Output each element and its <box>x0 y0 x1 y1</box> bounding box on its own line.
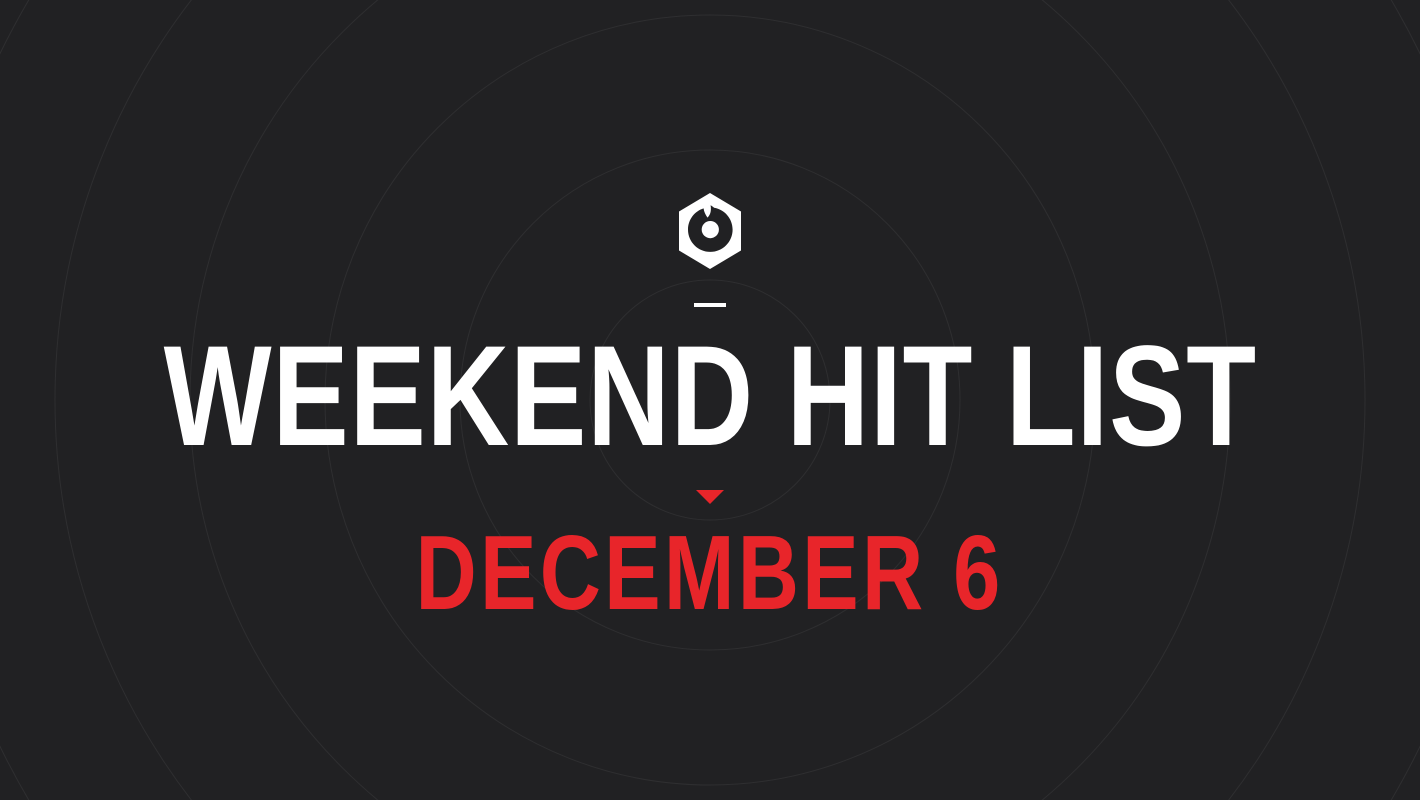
episode-date: DECEMBER 6 <box>416 520 1004 626</box>
triangle-down-icon <box>696 490 724 504</box>
slide-canvas: WEEKEND HIT LIST DECEMBER 6 <box>0 0 1420 800</box>
hero-content: WEEKEND HIT LIST DECEMBER 6 <box>0 0 1420 800</box>
brand-logo <box>675 192 745 270</box>
hexagon-flame-logo-icon <box>675 192 745 270</box>
title-divider <box>694 303 726 307</box>
page-title: WEEKEND HIT LIST <box>163 325 1256 468</box>
